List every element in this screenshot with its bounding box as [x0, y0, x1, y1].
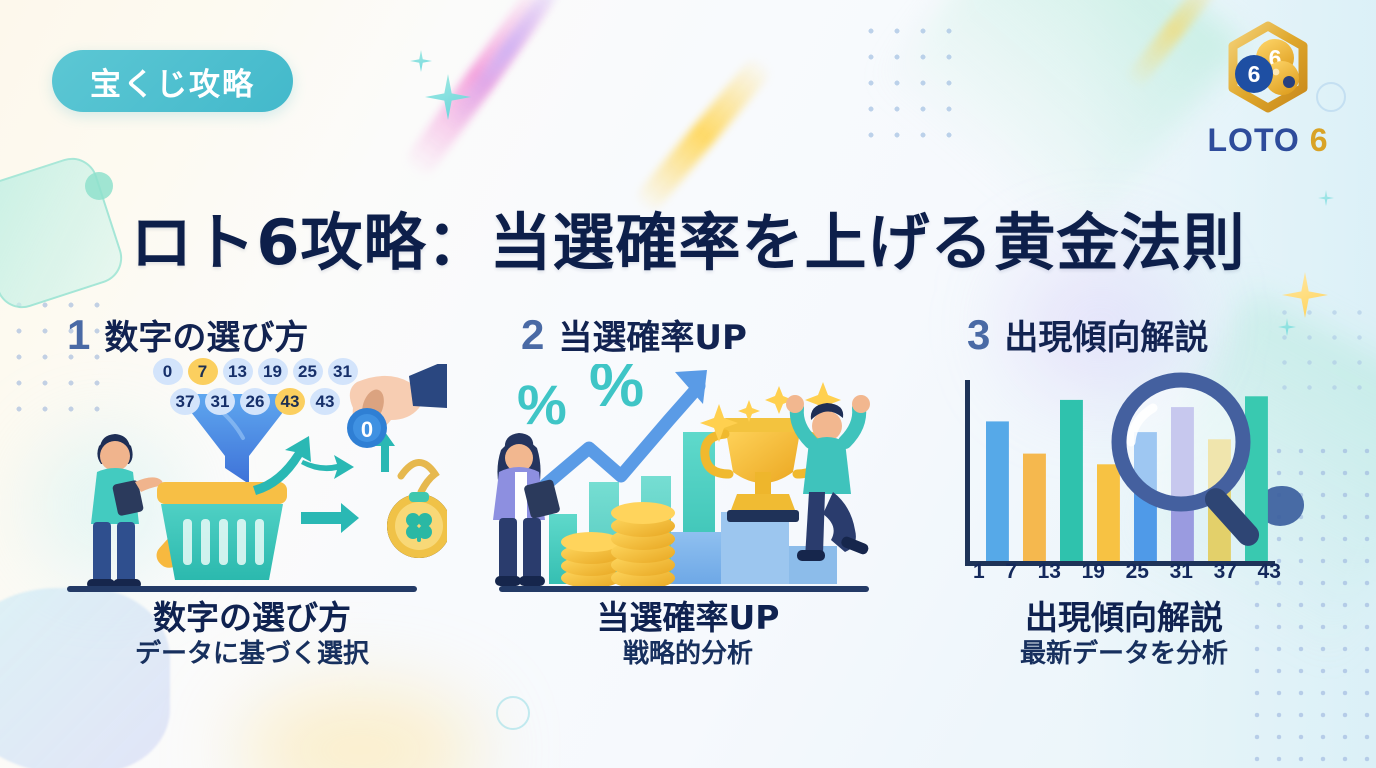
chart-x-tick-label: 19: [1082, 560, 1105, 584]
logo-wordmark: LOTO 6: [1190, 122, 1346, 159]
lottery-ball: 37: [170, 388, 200, 415]
chart-x-tick-label: 1: [973, 560, 985, 584]
card-header: 3 出現傾向解説: [929, 310, 1319, 362]
lottery-ball: 31: [205, 388, 235, 415]
lottery-ball: 0: [153, 358, 183, 385]
logo-ball-blue-label: 6: [1248, 61, 1261, 87]
lottery-ball: 13: [223, 358, 253, 385]
percent-symbol-icons: % %: [517, 364, 644, 436]
sparkle-icon: [425, 74, 471, 120]
chart-x-tick-label: 13: [1038, 560, 1061, 584]
lottery-ball-row-2: 3731264343: [105, 388, 405, 415]
chart-x-tick-label: 37: [1214, 560, 1237, 584]
logo-hexagon-icon: 6 6: [1190, 16, 1346, 126]
lottery-ball: 26: [240, 388, 270, 415]
lottery-ball-row-1: 0713192531: [105, 358, 405, 385]
lottery-ball: 43: [310, 388, 340, 415]
card-header: 1 数字の選び方: [57, 310, 447, 362]
logo-wordmark-main: LOTO: [1208, 122, 1300, 158]
category-badge-label: 宝くじ攻略: [90, 59, 255, 104]
dot-grid-decor-top: [858, 18, 968, 138]
chart-x-axis-labels: 17131925313743: [967, 560, 1287, 584]
chart-bar: [986, 421, 1009, 561]
chart-x-tick-label: 31: [1170, 560, 1193, 584]
lottery-ball: 19: [258, 358, 288, 385]
person-with-tablet-illustration: [87, 434, 163, 589]
card-footer: 出現傾向解説 最新データを分析: [929, 600, 1319, 670]
chart-bar: [1097, 464, 1120, 561]
card-illustration-number-selection: 0713192531 3731264343: [57, 364, 447, 594]
page-title: ロト6攻略：当選確率を上げる黄金法則: [0, 192, 1376, 282]
card-step-number: 2: [521, 311, 544, 359]
lottery-ball: 31: [328, 358, 358, 385]
card-footer-subtitle: データに基づく選択: [57, 639, 447, 670]
lottery-ball-grid: 0713192531 3731264343: [105, 358, 405, 418]
percent-symbol-2: %: [589, 364, 644, 420]
feature-cards: 1 数字の選び方 0713192531 3731264343: [0, 310, 1376, 730]
card-header: 2 当選確率UP: [493, 310, 883, 362]
card-footer: 数字の選び方 データに基づく選択: [57, 600, 447, 670]
card-heading: 当選確率UP: [558, 310, 747, 359]
card-win-probability: 2 当選確率UP: [493, 310, 883, 730]
card-illustration-win-probability: % %: [493, 364, 883, 594]
growth-trophy-illustration: % %: [493, 364, 883, 594]
card-step-number: 3: [967, 311, 990, 359]
card-footer-title: 当選確率UP: [493, 600, 883, 637]
ground-line: [499, 586, 869, 592]
loto6-logo: 6 6 LOTO 6: [1190, 16, 1346, 166]
card-footer: 当選確率UP 戦略的分析: [493, 600, 883, 670]
chart-x-tick-label: 43: [1258, 560, 1281, 584]
chart-bar: [1060, 400, 1083, 561]
card-footer-subtitle: 戦略的分析: [493, 639, 883, 670]
chart-bar: [1023, 454, 1046, 561]
lottery-ball: 43: [275, 388, 305, 415]
coin-label: 0: [361, 417, 373, 442]
lottery-ball: 7: [188, 358, 218, 385]
card-number-selection: 1 数字の選び方 0713192531 3731264343: [57, 310, 447, 730]
card-trend-analysis: 3 出現傾向解説 171319253: [929, 310, 1319, 730]
shopping-basket-icon: [152, 482, 287, 580]
chart-x-tick-label: 7: [1005, 560, 1017, 584]
card-footer-title: 数字の選び方: [57, 600, 447, 637]
card-heading: 数字の選び方: [104, 310, 308, 359]
percent-symbol-1: %: [517, 373, 567, 436]
clover-medal-icon: [387, 462, 447, 558]
card-step-number: 1: [67, 311, 90, 359]
card-footer-title: 出現傾向解説: [929, 600, 1319, 637]
lottery-ball: 25: [293, 358, 323, 385]
ground-line: [67, 586, 417, 592]
category-badge: 宝くじ攻略: [52, 50, 293, 112]
coin-stack-icons: [561, 502, 675, 589]
infographic-canvas: 宝くじ攻略 6 6 LOTO 6 ロト6攻略：: [0, 0, 1376, 768]
logo-wordmark-number: 6: [1310, 122, 1329, 158]
card-illustration-bar-chart: 17131925313743: [929, 364, 1319, 594]
card-footer-subtitle: 最新データを分析: [929, 639, 1319, 670]
sparkle-icon: [410, 50, 432, 72]
chart-x-tick-label: 25: [1126, 560, 1149, 584]
card-heading: 出現傾向解説: [1004, 310, 1208, 359]
